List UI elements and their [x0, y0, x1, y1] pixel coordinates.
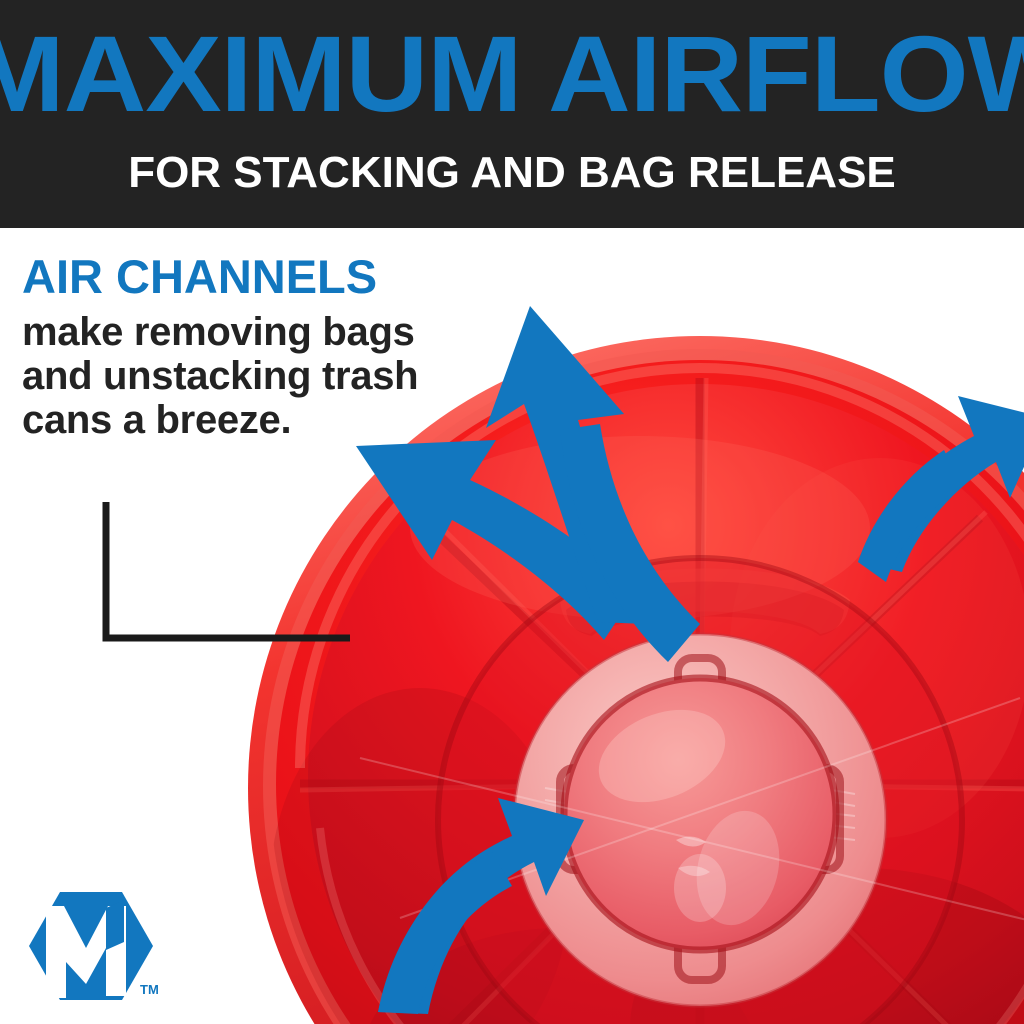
trademark-mark: TM [140, 982, 159, 997]
callout-body-line-2: and unstacking trash [22, 354, 422, 398]
callout-body: make removing bags and unstacking trash … [22, 310, 422, 442]
callout-title: AIR CHANNELS [22, 252, 422, 302]
callout-block: AIR CHANNELS make removing bags and unst… [22, 252, 422, 442]
page-subtitle: FOR STACKING AND BAG RELEASE [0, 148, 1024, 198]
m-hexagon-logo: TM [22, 886, 172, 1014]
callout-body-line-1: make removing bags [22, 310, 422, 354]
page-title: MAXIMUM AIRFLOW [0, 18, 1024, 130]
callout-body-line-3: cans a breeze. [22, 398, 422, 442]
infographic-root: MAXIMUM AIRFLOW FOR STACKING AND BAG REL… [0, 0, 1024, 1024]
header-band: MAXIMUM AIRFLOW FOR STACKING AND BAG REL… [0, 0, 1024, 228]
